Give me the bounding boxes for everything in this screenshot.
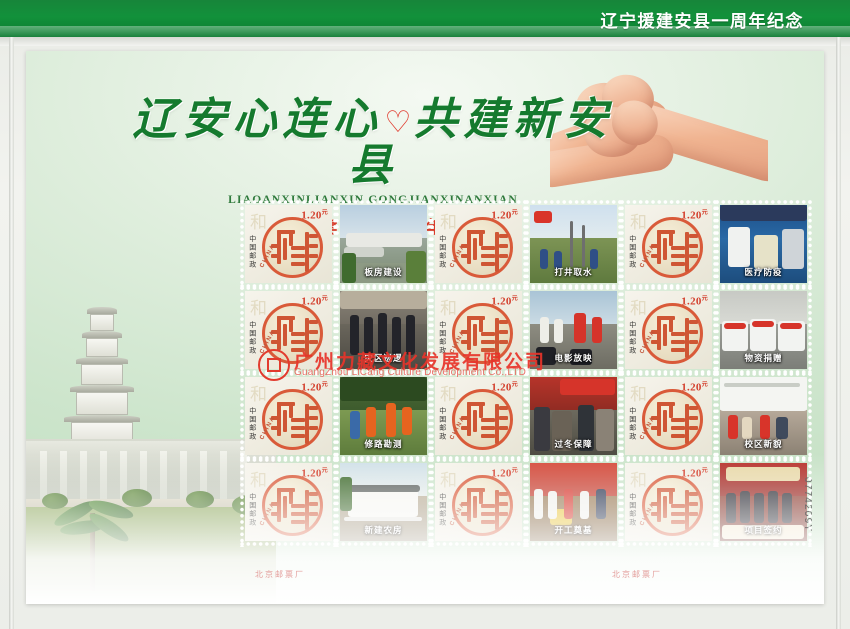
stamp-issuer: 中国邮政 <box>628 407 636 441</box>
harmony-seal-icon <box>262 475 323 536</box>
calligraphy-left: 辽安心连心 <box>133 94 383 145</box>
harmony-seal-icon <box>452 389 513 450</box>
stamp-cell[interactable]: 和 1.20元 中国邮政 CHINA <box>621 201 716 287</box>
photo-cell[interactable]: 修路勘测 <box>336 373 431 459</box>
stamp-denomination: 1.20元 <box>301 207 328 222</box>
stamp-denomination: 1.20元 <box>301 465 328 480</box>
photo-ground <box>530 496 617 541</box>
photo-cell[interactable]: 过冬保障 <box>526 373 621 459</box>
stamp-issuer: 中国邮政 <box>438 321 446 355</box>
photo-well-drilling[interactable]: 打井取水 <box>530 205 617 283</box>
stamp-ghost-text: 和 <box>440 466 457 491</box>
harmony-seal-icon <box>262 303 323 364</box>
photo-medical-aid[interactable]: 医疗防疫 <box>720 205 807 283</box>
stamp-country: CHINA <box>449 243 467 269</box>
stamp-cell[interactable]: 和 1.20元 中国邮政 CHINA <box>241 373 336 459</box>
stamp-ghost-text: 和 <box>250 466 267 491</box>
photo-sky <box>530 463 617 499</box>
photo-sky <box>720 205 807 241</box>
stamp-denomination: 1.20元 <box>301 379 328 394</box>
banner-title: 辽宁援建安县一周年纪念 <box>601 7 805 32</box>
photo-cell[interactable]: 灾区巡逻 <box>336 287 431 373</box>
stamp-ghost-text: 和 <box>630 466 647 491</box>
postage-stamp[interactable]: 和 1.20元 中国邮政 CHINA <box>435 463 522 541</box>
stamp-issuer: 中国邮政 <box>628 321 636 355</box>
stamp-country: CHINA <box>259 329 277 355</box>
photo-caption: 电影放映 <box>530 352 617 364</box>
stamp-issuer: 中国邮政 <box>248 321 256 355</box>
photo-sky <box>530 205 617 241</box>
stamp-denomination: 1.20元 <box>681 207 708 222</box>
photo-ground <box>530 410 617 455</box>
photo-caption: 物资捐赠 <box>720 352 807 364</box>
stamp-issuer: 中国邮政 <box>248 407 256 441</box>
sleeve-top-edge <box>0 37 850 46</box>
sleeve-right-edge <box>836 37 841 629</box>
stamp-cell[interactable]: 和 1.20元 中国邮政 CHINA <box>241 201 336 287</box>
stamp-cell[interactable]: 和 1.20元 中国邮政 CHINA <box>241 459 336 545</box>
stamp-cell[interactable]: 和 1.20元 中国邮政 CHINA <box>621 459 716 545</box>
harmony-seal-icon <box>642 217 703 278</box>
stamp-country: CHINA <box>259 243 277 269</box>
photo-ground <box>340 410 427 455</box>
photo-cell[interactable]: 板房建设 <box>336 201 431 287</box>
photo-ground <box>720 496 807 541</box>
photo-ground <box>340 496 427 541</box>
photo-cell[interactable]: 打井取水 <box>526 201 621 287</box>
stamp-denomination: 1.20元 <box>491 465 518 480</box>
stamp-issuer: 中国邮政 <box>438 493 446 527</box>
photo-sky <box>530 377 617 413</box>
stamp-ghost-text: 和 <box>440 380 457 405</box>
photo-caption: 项目签约 <box>720 524 807 536</box>
photo-ground <box>530 238 617 283</box>
stamp-issuer: 中国邮政 <box>438 407 446 441</box>
stamp-country: CHINA <box>449 501 467 527</box>
photo-caption: 灾区巡逻 <box>340 352 427 364</box>
photo-caption: 修路勘测 <box>340 438 427 450</box>
photo-road-survey[interactable]: 修路勘测 <box>340 377 427 455</box>
stamp-cell[interactable]: 和 1.20元 中国邮政 CHINA <box>431 373 526 459</box>
postage-stamp[interactable]: 和 1.20元 中国邮政 CHINA <box>245 377 332 455</box>
harmony-seal-icon <box>642 475 703 536</box>
calligraphy-title: 辽安心连心♡共建新安县 <box>118 97 628 189</box>
postage-stamp[interactable]: 和 1.20元 中国邮政 CHINA <box>625 463 712 541</box>
stamp-ghost-text: 和 <box>250 294 267 319</box>
stamp-grid: 和 1.20元 中国邮政 CHINA 板房建设 和 1.20元 <box>241 201 811 546</box>
photo-caption: 开工奠基 <box>530 524 617 536</box>
harmony-seal-icon <box>452 217 513 278</box>
stamp-cell[interactable]: 和 1.20元 中国邮政 CHINA <box>431 459 526 545</box>
photo-ground <box>530 324 617 369</box>
stamp-denomination: 1.20元 <box>681 379 708 394</box>
postage-stamp[interactable]: 和 1.20元 中国邮政 CHINA <box>245 205 332 283</box>
stamp-ghost-text: 和 <box>440 208 457 233</box>
photo-cell[interactable]: 开工奠基 <box>526 459 621 545</box>
stamp-cell[interactable]: 和 1.20元 中国邮政 CHINA <box>621 287 716 373</box>
stamp-cell[interactable]: 和 1.20元 中国邮政 CHINA <box>241 287 336 373</box>
photo-cell[interactable]: 校区新貌 <box>716 373 811 459</box>
photo-groundbreaking[interactable]: 开工奠基 <box>530 463 617 541</box>
photo-sky <box>720 463 807 499</box>
photo-cell[interactable]: 医疗防疫 <box>716 201 811 287</box>
stamp-issuer: 中国邮政 <box>248 493 256 527</box>
postage-stamp[interactable]: 和 1.20元 中国邮政 CHINA <box>435 291 522 369</box>
stamp-denomination: 1.20元 <box>491 379 518 394</box>
stamp-issuer: 中国邮政 <box>628 493 636 527</box>
stamp-country: CHINA <box>259 501 277 527</box>
stamp-denomination: 1.20元 <box>681 465 708 480</box>
photo-prefab-housing[interactable]: 板房建设 <box>340 205 427 283</box>
photo-caption: 医疗防疫 <box>720 266 807 278</box>
postage-stamp[interactable]: 和 1.20元 中国邮政 CHINA <box>625 291 712 369</box>
heart-icon: ♡ <box>385 105 412 140</box>
postage-stamp[interactable]: 和 1.20元 中国邮政 CHINA <box>435 205 522 283</box>
printer-imprint-right: 北京邮票厂 <box>612 569 662 580</box>
stamp-cell[interactable]: 和 1.20元 中国邮政 CHINA <box>431 287 526 373</box>
harmony-seal-icon <box>452 475 513 536</box>
photo-sky <box>340 291 427 327</box>
stamp-ghost-text: 和 <box>250 208 267 233</box>
stamp-issuer: 中国邮政 <box>438 235 446 269</box>
souvenir-sheet: 辽安心连心♡共建新安县 LIAOANXINLIANXIN GONGJIANXIN… <box>26 51 824 604</box>
stamp-ghost-text: 和 <box>630 380 647 405</box>
photo-ground <box>340 238 427 283</box>
photo-ground <box>720 410 807 455</box>
photo-caption: 新建农房 <box>340 524 427 536</box>
printer-imprint-left: 北京邮票厂 <box>255 569 305 580</box>
harmony-seal-icon <box>642 303 703 364</box>
stamp-country: CHINA <box>639 329 657 355</box>
postage-stamp[interactable]: 和 1.20元 中国邮政 CHINA <box>625 205 712 283</box>
photo-sky <box>340 377 427 413</box>
harmony-seal-icon <box>452 303 513 364</box>
top-banner: 辽宁援建安县一周年纪念 <box>0 0 850 37</box>
harmony-seal-icon <box>262 389 323 450</box>
photo-film-screening[interactable]: 电影放映 <box>530 291 617 369</box>
photo-cell[interactable]: 新建农房 <box>336 459 431 545</box>
photo-cell[interactable]: 项目签约 <box>716 459 811 545</box>
photo-sky <box>340 205 427 241</box>
stamp-country: CHINA <box>639 243 657 269</box>
stamp-ghost-text: 和 <box>630 208 647 233</box>
stamp-ghost-text: 和 <box>630 294 647 319</box>
stamp-country: CHINA <box>449 329 467 355</box>
photo-new-campus[interactable]: 校区新貌 <box>720 377 807 455</box>
photo-caption: 打井取水 <box>530 266 617 278</box>
stamp-denomination: 1.20元 <box>301 293 328 308</box>
postage-stamp[interactable]: 和 1.20元 中国邮政 CHINA <box>435 377 522 455</box>
stamp-country: CHINA <box>449 415 467 441</box>
harmony-seal-icon <box>262 217 323 278</box>
photo-ground <box>340 324 427 369</box>
stamp-cell[interactable]: 和 1.20元 中国邮政 CHINA <box>431 201 526 287</box>
photo-vehicle-donation[interactable]: 物资捐赠 <box>720 291 807 369</box>
stamp-country: CHINA <box>639 415 657 441</box>
photo-caption: 校区新貌 <box>720 438 807 450</box>
stamp-denomination: 1.20元 <box>681 293 708 308</box>
stamp-issuer: 中国邮政 <box>628 235 636 269</box>
photo-signing-ceremony[interactable]: 项目签约 <box>720 463 807 541</box>
stamp-ghost-text: 和 <box>250 380 267 405</box>
photo-sky <box>720 377 807 413</box>
photo-new-farmhouse[interactable]: 新建农房 <box>340 463 427 541</box>
photo-disaster-patrol[interactable]: 灾区巡逻 <box>340 291 427 369</box>
stamp-country: CHINA <box>639 501 657 527</box>
photo-winter-support[interactable]: 过冬保障 <box>530 377 617 455</box>
photo-caption: 过冬保障 <box>530 438 617 450</box>
photo-cell[interactable]: 物资捐赠 <box>716 287 811 373</box>
postage-stamp[interactable]: 和 1.20元 中国邮政 CHINA <box>245 463 332 541</box>
postage-stamp[interactable]: 和 1.20元 中国邮政 CHINA <box>245 291 332 369</box>
stamp-denomination: 1.20元 <box>491 207 518 222</box>
photo-cell[interactable]: 电影放映 <box>526 287 621 373</box>
stamp-ghost-text: 和 <box>440 294 457 319</box>
stamp-issuer: 中国邮政 <box>248 235 256 269</box>
photo-ground <box>720 238 807 283</box>
stamp-cell[interactable]: 和 1.20元 中国邮政 CHINA <box>621 373 716 459</box>
photo-sky <box>720 291 807 327</box>
photo-ground <box>720 324 807 369</box>
stamp-country: CHINA <box>259 415 277 441</box>
postage-stamp[interactable]: 和 1.20元 中国邮政 CHINA <box>625 377 712 455</box>
sleeve-left-edge <box>9 37 14 629</box>
photo-caption: 板房建设 <box>340 266 427 278</box>
scanned-sheet-photo: 辽宁援建安县一周年纪念 <box>0 0 850 629</box>
stamp-denomination: 1.20元 <box>491 293 518 308</box>
harmony-seal-icon <box>642 389 703 450</box>
photo-sky <box>530 291 617 327</box>
photo-sky <box>340 463 427 499</box>
